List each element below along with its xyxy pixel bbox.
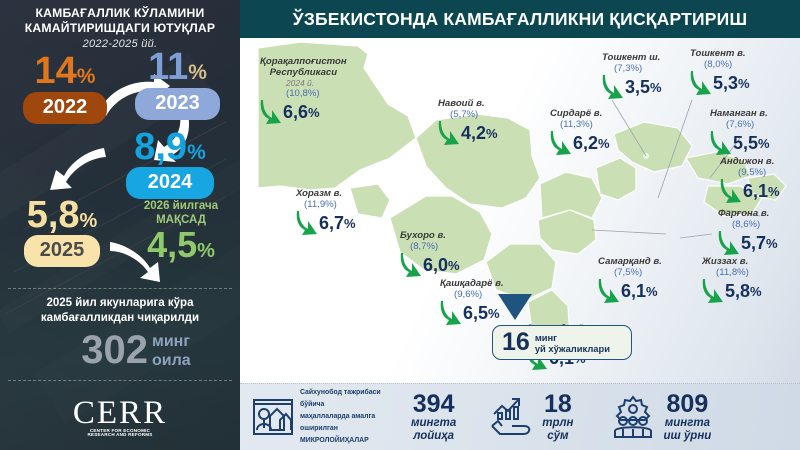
result-unit-line2: оила: [152, 351, 240, 370]
result-unit: минг оила: [152, 332, 240, 370]
footer-unit-line2: лойиҳа: [411, 430, 456, 443]
down-arrow-icon: [598, 278, 620, 304]
cerr-wordmark: CERR: [0, 396, 240, 430]
year-2025-pill: 2025: [24, 235, 101, 267]
gear-people-icon: [609, 395, 657, 439]
region-value: 5,8: [725, 282, 750, 300]
region-name: Фарғона в.: [718, 208, 778, 219]
year-2025-value: 5,8: [27, 194, 80, 236]
panel-title-line2: КАМАЙТИРИШДАГИ ЮТУҚЛАР: [0, 21, 240, 36]
year-2023-percent: %: [188, 61, 207, 84]
footer-investment-number-block: 18 трлн сўм: [542, 392, 573, 443]
region-label-bukhara: Бухоро в. (8,7%) 6,0%: [400, 230, 460, 278]
region-percent: %: [768, 184, 780, 199]
down-arrow-icon: [690, 70, 712, 96]
growth-chart-hand-icon: [490, 396, 536, 438]
footer-jobs-number-block: 809 мингта иш ўрни: [663, 392, 711, 443]
footer-number: 394: [411, 392, 456, 417]
year-2022-percent: %: [77, 65, 96, 88]
region-prev-value: (8,0%): [690, 59, 750, 70]
result-caption-line2: камбағалликдан чиқарилди: [0, 311, 240, 326]
left-panel: КАМБАҒАЛЛИК КЎЛАМИНИ КАМАЙТИРИШДАГИ ЮТУҚ…: [0, 0, 240, 450]
region-label-tashkent-region: Тошкент в. (8,0%) 5,3%: [690, 48, 750, 96]
region-name: Андижон в.: [720, 156, 780, 167]
panel-title-line1: КАМБАҒАЛЛИК КЎЛАМИНИ: [0, 6, 240, 21]
footer-unit-line1: мингта: [663, 417, 711, 430]
footer-stats: Сайхунобод тажрибаси бўйича маҳаллаларда…: [240, 383, 800, 450]
result-unit-line1: минг: [152, 332, 240, 351]
region-value: 5,7: [741, 234, 766, 252]
region-value: 6,0: [423, 256, 448, 274]
footer-number: 809: [663, 392, 711, 417]
region-name: Қашқадарё в.: [440, 278, 504, 289]
region-percent: %: [766, 236, 778, 251]
goal-percent: %: [197, 240, 215, 262]
region-name: Бухоро в.: [400, 230, 460, 241]
region-prev-value: (8,7%): [400, 241, 460, 252]
year-2023-pill: 2023: [135, 88, 220, 120]
region-prev-value: (5,7%): [438, 109, 498, 120]
region-label-jizzakh: Жиззах в. (11,8%) 5,8%: [702, 256, 762, 304]
region-name: Наманган в.: [710, 108, 770, 119]
footer-microprojects-number-block: 394 мингта лойиҳа: [411, 392, 456, 443]
region-percent: %: [486, 126, 498, 141]
goal-value: 4,5: [147, 224, 197, 265]
region-percent: %: [738, 76, 750, 91]
region-prev-value: (11,9%): [296, 199, 356, 210]
region-label-andijan: Андижон в. (9,5%) 6,1%: [720, 156, 780, 204]
households-unit-line2: уй хўжаликлари: [535, 343, 610, 354]
footer-text-line1: Сайхунобод тажрибаси бўйича: [300, 387, 405, 411]
region-value: 6,2: [573, 134, 598, 152]
region-value: 5,3: [713, 74, 738, 92]
region-prev-value: (8,6%): [718, 219, 778, 230]
footer-text-line2: маҳаллаларда амалга: [300, 411, 405, 423]
goal-line1: 2026 йилгача: [122, 200, 240, 213]
region-percent: %: [758, 136, 770, 151]
region-label-samarkand: Самарқанд в. (7,5%) 6,1%: [598, 256, 662, 304]
footer-unit-line2: сўм: [542, 430, 573, 443]
footer-number: 18: [542, 392, 573, 417]
footer-unit-line2: иш ўрни: [663, 430, 711, 443]
result-caption: 2025 йил якунларига кўра камбағалликдан …: [0, 296, 240, 326]
region-percent: %: [650, 80, 662, 95]
households-callout: 16 минг уй хўжаликлари: [492, 325, 632, 360]
region-value: 4,2: [461, 124, 486, 142]
year-block-2023: 11% 2023: [120, 48, 235, 120]
down-arrow-icon: [720, 178, 742, 204]
households-unit: минг уй хўжаликлари: [535, 332, 610, 354]
footer-text-line3: оширилган МИКРОЛОЙИҲАЛАР: [300, 423, 405, 447]
region-label-tashkent-city: Тошкент ш. (7,3%) 3,5%: [602, 52, 662, 100]
prev-year-note: 2024 й.: [286, 78, 347, 88]
year-2025-percent: %: [80, 210, 98, 232]
goal-block-2026: 2026 йилгача МАҚСАД 4,5%: [122, 200, 240, 263]
infographic-root: КАМБАҒАЛЛИК КЎЛАМИНИ КАМАЙТИРИШДАГИ ЮТУҚ…: [0, 0, 800, 450]
region-label-fergana: Фарғона в. (8,6%) 5,7%: [718, 208, 778, 256]
divider-bottom: [8, 380, 232, 381]
down-arrow-icon: [602, 74, 624, 100]
region-percent: %: [344, 216, 356, 231]
divider-top: [8, 288, 232, 289]
year-2024-percent: %: [187, 141, 206, 164]
region-prev-value: (7,3%): [602, 63, 662, 74]
region-value: 6,6: [283, 103, 308, 121]
region-value: 5,5: [733, 134, 758, 152]
region-name: Тошкент ш.: [602, 52, 662, 63]
year-2022-value: 14: [35, 50, 77, 92]
region-label-karakalpakstan: Қорақалпоғистон Республикаси 2024 й. (10…: [260, 56, 347, 125]
arrow-2024-to-2025-icon: [48, 144, 108, 192]
region-value: 3,5: [625, 78, 650, 96]
region-name: Хоразм в.: [296, 188, 356, 199]
down-arrow-icon: [438, 120, 460, 146]
down-arrow-icon: [718, 230, 740, 256]
region-value: 6,1: [621, 282, 646, 300]
year-2022-pill: 2022: [23, 92, 108, 124]
down-arrow-icon: [400, 252, 422, 278]
year-block-2022: 14% 2022: [10, 52, 120, 124]
region-name: Қорақалпоғистон: [260, 56, 347, 67]
year-block-2024: 8,9% 2024: [105, 128, 235, 199]
region-label-sirdaryo: Сирдарё в. (11,3%) 6,2%: [550, 108, 610, 156]
callout-pointer-icon: [498, 294, 532, 320]
region-value: 6,7: [319, 214, 344, 232]
region-label-kashkadarya: Қашқадарё в. (9,6%) 6,5%: [440, 278, 504, 326]
region-percent: %: [598, 136, 610, 151]
region-prev-value: (10,8%): [286, 88, 347, 99]
region-label-navoiy: Навоий в. (5,7%) 4,2%: [438, 98, 498, 146]
region-label-namangan: Наманган в. (7,6%) 5,5%: [710, 108, 770, 156]
footer-item-microprojects: Сайхунобод тажрибаси бўйича маҳаллаларда…: [252, 387, 456, 447]
down-arrow-icon: [440, 300, 462, 326]
region-prev-value: (7,5%): [598, 267, 662, 278]
footer-microprojects-text: Сайхунобод тажрибаси бўйича маҳаллаларда…: [300, 387, 405, 447]
region-percent: %: [448, 258, 460, 273]
region-name: Тошкент в.: [690, 48, 750, 59]
year-2023-value: 11: [148, 46, 188, 88]
year-2024-pill: 2024: [126, 167, 215, 199]
households-number: 16: [502, 330, 530, 355]
region-prev-value: (11,3%): [550, 119, 610, 130]
region-percent: %: [308, 105, 320, 120]
region-value: 6,5: [463, 304, 488, 322]
down-arrow-icon: [296, 210, 318, 236]
region-value: 6,1: [743, 182, 768, 200]
panel-title: КАМБАҒАЛЛИК КЎЛАМИНИ КАМАЙТИРИШДАГИ ЮТУҚ…: [0, 6, 240, 36]
down-arrow-icon: [260, 99, 282, 125]
cerr-subtext-line2: RESEARCH AND REFORMS: [0, 432, 240, 438]
region-prev-value: (9,6%): [440, 289, 504, 300]
region-name: Жиззах в.: [702, 256, 762, 267]
down-arrow-icon: [710, 130, 732, 156]
footer-unit-line1: мингта: [411, 417, 456, 430]
footer-unit-line1: трлн: [542, 417, 573, 430]
region-name: Навоий в.: [438, 98, 498, 109]
region-percent: %: [750, 284, 762, 299]
footer-item-investment: 18 трлн сўм: [490, 392, 573, 443]
page-title: ЎЗБЕКИСТОНДА КАМБАҒАЛЛИКНИ ҚИСҚАРТИРИШ: [240, 0, 800, 38]
region-percent: %: [646, 284, 658, 299]
region-prev-value: (9,5%): [720, 167, 780, 178]
region-prev-value: (7,6%): [710, 119, 770, 130]
region-name-line2: Республикаси: [260, 67, 347, 78]
households-unit-line1: минг: [535, 332, 610, 343]
mahalla-house-icon: [252, 396, 294, 438]
result-number: 302: [18, 330, 148, 370]
result-caption-line1: 2025 йил якунларига кўра: [0, 296, 240, 311]
region-name: Сирдарё в.: [550, 108, 610, 119]
down-arrow-icon: [702, 278, 724, 304]
year-block-2025: 5,8% 2025: [6, 196, 118, 267]
cerr-logo: CERR CENTER FOR ECONOMIC RESEARCH AND RE…: [0, 396, 240, 438]
region-name: Самарқанд в.: [598, 256, 662, 267]
year-2024-value: 8,9: [134, 126, 187, 168]
down-arrow-icon: [550, 130, 572, 156]
footer-item-jobs: 809 мингта иш ўрни: [609, 392, 711, 443]
region-label-khorezm: Хоразм в. (11,9%) 6,7%: [296, 188, 356, 236]
region-prev-value: (11,8%): [702, 267, 762, 278]
